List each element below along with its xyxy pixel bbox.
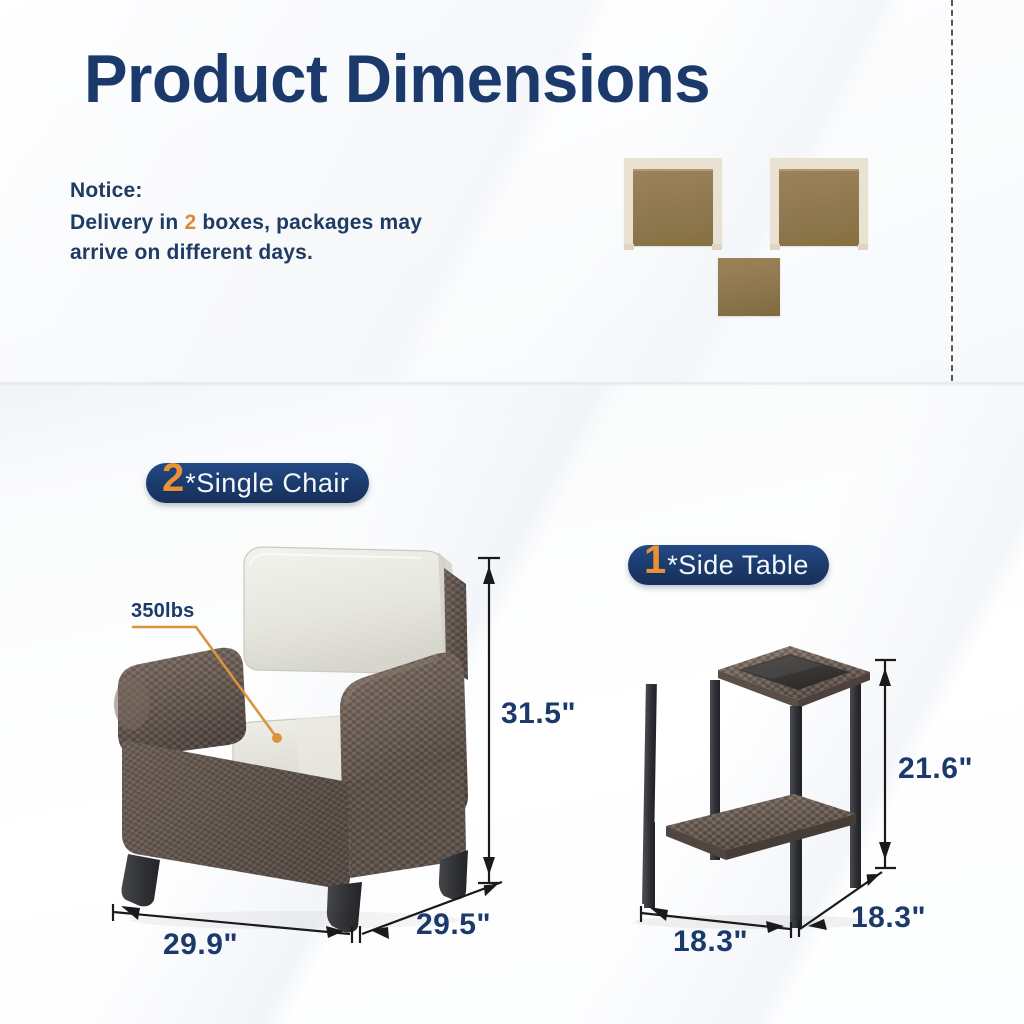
side-table-dimension-lines [0,0,1024,1024]
side-table-width-label: 18.3" [673,925,748,959]
side-table-depth-label: 18.3" [851,901,926,935]
side-table-height-label: 21.6" [898,752,973,786]
product-dimensions-infographic: Product Dimensions Notice: Delivery in 2… [0,0,1024,1024]
